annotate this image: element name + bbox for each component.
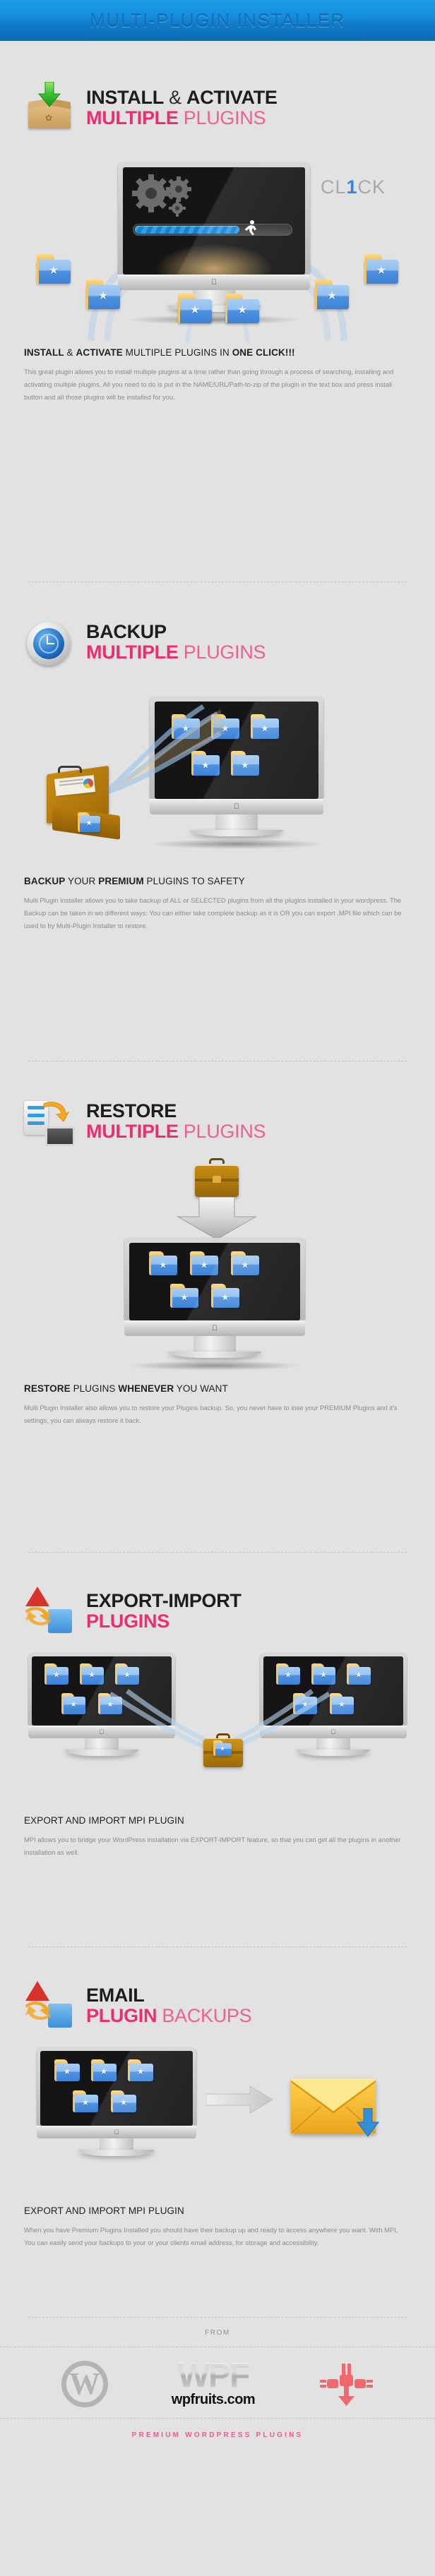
curved-arrow-icon xyxy=(42,1100,69,1122)
email-plugin-icon xyxy=(24,1980,76,2032)
install-subheading-thin: PLUGINS xyxy=(179,107,266,128)
plugin-folder-icon: ★ xyxy=(251,714,279,739)
backup-caption-p1: YOUR xyxy=(65,876,98,886)
footer-tagline: PREMIUM WORDPRESS PLUGINS xyxy=(0,2419,435,2455)
backup-caption-p0: BACKUP xyxy=(24,876,65,886)
plugin-folder-icon: ★ xyxy=(231,1251,259,1275)
restore-arrow-icon xyxy=(24,1095,76,1148)
wpfruits-brand[interactable]: WPF wpfruits.com xyxy=(172,2360,255,2408)
email-heading-strong: EMAIL xyxy=(86,1985,145,2006)
imac-install:  xyxy=(118,162,310,325)
email-heading-row: EMAIL PLUGIN BACKUPS xyxy=(24,1947,411,2032)
restore-subheading-bold: MULTIPLE xyxy=(86,1121,179,1142)
email-graphic: ★ ★ ★ ★ ★  xyxy=(24,2047,411,2181)
plugin-folder-icon: ★ xyxy=(78,812,100,832)
orange-swap-arrows-icon xyxy=(24,1603,52,1629)
plugin-folder-icon: ★ xyxy=(225,294,259,323)
email-caption: EXPORT AND IMPORT MPI PLUGIN xyxy=(24,2205,411,2216)
backup-graphic: ★ ★ ★ ★ ★  xyxy=(24,687,411,856)
export-import-heading-strong: EXPORT-IMPORT xyxy=(86,1590,242,1611)
click-one: 1 xyxy=(347,176,358,198)
restore-caption-p0: RESTORE xyxy=(24,1383,71,1394)
export-import-subheading-bold: PLUGINS xyxy=(86,1611,169,1632)
install-caption-p3: MULTIPLE PLUGINS IN xyxy=(123,347,232,358)
plugin-folder-icon: ★ xyxy=(178,294,212,323)
plugin-folder-icon: ★ xyxy=(347,1663,371,1685)
wpf-logotype: WPF xyxy=(172,2360,255,2391)
export-import-caption-p0: EXPORT AND IMPORT MPI PLUGIN xyxy=(24,1815,184,1826)
export-import-body-text: MPI allows you to bridge your WordPress … xyxy=(24,1834,409,1859)
backup-body-text: Multi Plugin Installer allows you to tak… xyxy=(24,894,409,932)
one-click-label: CL1CK xyxy=(321,176,386,198)
email-body-text: When you have Premium Plugins Installed … xyxy=(24,2224,409,2249)
backup-caption: BACKUP YOUR PREMIUM PLUGINS TO SAFETY xyxy=(24,876,411,886)
install-heading-row: ✿ INSTALL & ACTIVATE MULTIPLE PLUGINS xyxy=(24,41,411,134)
restore-caption-p2: WHENEVER xyxy=(118,1383,174,1394)
restore-caption: RESTORE PLUGINS WHENEVER YOU WANT xyxy=(24,1383,411,1394)
plugin-folder-icon: ★ xyxy=(231,751,259,776)
install-heading-amp: & xyxy=(164,87,186,108)
restore-heading-strong: RESTORE xyxy=(86,1100,177,1121)
plugin-folder-icon: ★ xyxy=(211,1284,239,1308)
download-arrow-icon xyxy=(356,2108,380,2138)
plugin-folder-icon: ★ xyxy=(311,1663,335,1685)
page-header-banner: MULTI-PLUGIN INSTALLER xyxy=(0,0,435,41)
plugin-folder-icon: ★ xyxy=(73,2090,98,2112)
briefcase-icon: ★ xyxy=(42,770,123,841)
backup-heading-row: BACKUP MULTIPLE PLUGINS xyxy=(24,582,411,668)
plugin-folder-icon: ★ xyxy=(37,254,71,284)
email-caption-p0: EXPORT AND IMPORT MPI PLUGIN xyxy=(24,2205,184,2216)
email-subheading-thin: BACKUPS xyxy=(157,2005,251,2026)
footer-logo-row: W WPF wpfruits.com xyxy=(0,2347,435,2418)
install-caption-p0: INSTALL xyxy=(24,347,64,358)
wordpress-logo-icon: W xyxy=(61,2361,108,2407)
install-progress-bar xyxy=(133,224,292,236)
export-import-graphic: ★ ★ ★ ★ ★  ★ ★ ★ ★ ★ xyxy=(24,1653,411,1787)
restore-heading-text: RESTORE MULTIPLE PLUGINS xyxy=(86,1102,266,1141)
email-heading-text: EMAIL PLUGIN BACKUPS xyxy=(86,1986,251,2026)
footer-from-label: FROM xyxy=(0,2318,435,2347)
restore-caption-p3: YOU WANT xyxy=(174,1383,228,1394)
backup-caption-p2: PREMIUM xyxy=(98,876,143,886)
plugin-folder-icon: ★ xyxy=(276,1663,300,1685)
section-email: EMAIL PLUGIN BACKUPS ★ ★ ★ ★ ★  xyxy=(0,1947,435,2300)
export-import-heading-row: EXPORT-IMPORT PLUGINS xyxy=(24,1553,411,1637)
backup-caption-p3: PLUGINS TO SAFETY xyxy=(144,876,245,886)
install-caption: INSTALL & ACTIVATE MULTIPLE PLUGINS IN O… xyxy=(24,347,411,358)
backup-subheading-bold: MULTIPLE xyxy=(86,642,179,663)
install-heading-strong: INSTALL xyxy=(86,87,164,108)
plugin-folder-icon: ★ xyxy=(80,1663,104,1685)
plugin-folder-icon: ★ xyxy=(86,279,120,309)
section-export-import: EXPORT-IMPORT PLUGINS ★ ★ ★ ★ ★  xyxy=(0,1553,435,1927)
backup-heading-text: BACKUP MULTIPLE PLUGINS xyxy=(86,622,266,662)
restore-caption-p1: PLUGINS xyxy=(71,1383,119,1394)
plugin-folder-icon: ★ xyxy=(170,1284,198,1308)
restore-body-text: Multi Plugin Installer also allows you t… xyxy=(24,1402,409,1427)
imac-email-source: ★ ★ ★ ★ ★  xyxy=(37,2047,196,2156)
plugin-folder-icon: ★ xyxy=(54,2059,80,2081)
section-backup: BACKUP MULTIPLE PLUGINS ★ ★ ★ ★ ★  xyxy=(0,582,435,1041)
plugin-folder-icon: ★ xyxy=(149,1251,177,1275)
plugin-folder-icon: ★ xyxy=(115,1663,139,1685)
plugin-folder-icon: ★ xyxy=(61,1693,85,1714)
click-pre: CL xyxy=(321,176,347,198)
apple-logo-icon:  xyxy=(211,279,217,287)
email-subheading-bold: PLUGIN xyxy=(86,2005,157,2026)
backup-heading-strong: BACKUP xyxy=(86,621,167,642)
apple-logo-icon:  xyxy=(234,803,239,811)
backup-disc-icon xyxy=(24,616,76,668)
install-caption-p1: & xyxy=(64,347,76,358)
restore-graphic: ★ ★ ★ ★ ★  xyxy=(24,1162,411,1366)
export-import-heading-text: EXPORT-IMPORT PLUGINS xyxy=(86,1591,242,1631)
backup-subheading-thin: PLUGINS xyxy=(179,642,266,663)
install-heading-text: INSTALL & ACTIVATE MULTIPLE PLUGINS xyxy=(86,88,278,128)
down-arrow-icon xyxy=(175,1197,258,1241)
plugin-folder-icon: ★ xyxy=(111,2090,136,2112)
click-post: CK xyxy=(358,176,386,198)
plugin-folder-icon: ★ xyxy=(128,2059,153,2081)
plugin-folder-icon: ★ xyxy=(315,279,349,309)
section-restore: RESTORE MULTIPLE PLUGINS ★ ★ xyxy=(0,1061,435,1531)
export-import-icon xyxy=(24,1585,76,1637)
section-install: ✿ INSTALL & ACTIVATE MULTIPLE PLUGINS xyxy=(0,41,435,541)
install-caption-p2: ACTIVATE xyxy=(76,347,123,358)
transfer-arrow-icon xyxy=(206,2086,274,2114)
plug-connector-icon xyxy=(318,2361,374,2407)
apple-logo-icon:  xyxy=(114,2129,119,2136)
plugin-folder-icon: ★ xyxy=(44,1663,68,1685)
download-box-icon: ✿ xyxy=(24,82,76,134)
install-body-text: This great plugin allows you to install … xyxy=(24,366,409,404)
restore-heading-row: RESTORE MULTIPLE PLUGINS xyxy=(24,1061,411,1148)
gears-icon xyxy=(132,174,203,221)
briefcase-icon xyxy=(192,1162,242,1200)
install-subheading-bold: MULTIPLE xyxy=(86,107,179,128)
export-import-caption: EXPORT AND IMPORT MPI PLUGIN xyxy=(24,1815,411,1826)
plugin-folder-icon: ★ xyxy=(91,2059,117,2081)
install-heading-rest: ACTIVATE xyxy=(186,87,278,108)
apple-logo-icon:  xyxy=(212,1325,218,1332)
briefcase-icon: ★ xyxy=(202,1736,246,1773)
install-caption-p4: ONE CLICK!!! xyxy=(232,347,295,358)
page-title: MULTI-PLUGIN INSTALLER xyxy=(90,10,345,32)
install-graphic:  CL1CK ★ ★ ★ ★ ★ ★ xyxy=(24,147,411,344)
plugin-folder-icon: ★ xyxy=(213,1740,232,1756)
imac-restore: ★ ★ ★ ★ ★  xyxy=(124,1238,305,1371)
restore-subheading-thin: PLUGINS xyxy=(179,1121,266,1142)
orange-swap-arrows-icon xyxy=(24,1998,52,2023)
running-man-icon xyxy=(243,219,258,239)
plugin-folder-icon: ★ xyxy=(190,1251,218,1275)
email-envelope-icon xyxy=(291,2074,381,2139)
wordpress-mark-letter: W xyxy=(69,2369,100,2400)
wpfruits-url: wpfruits.com xyxy=(172,2392,255,2408)
plugin-folder-icon: ★ xyxy=(364,254,398,284)
